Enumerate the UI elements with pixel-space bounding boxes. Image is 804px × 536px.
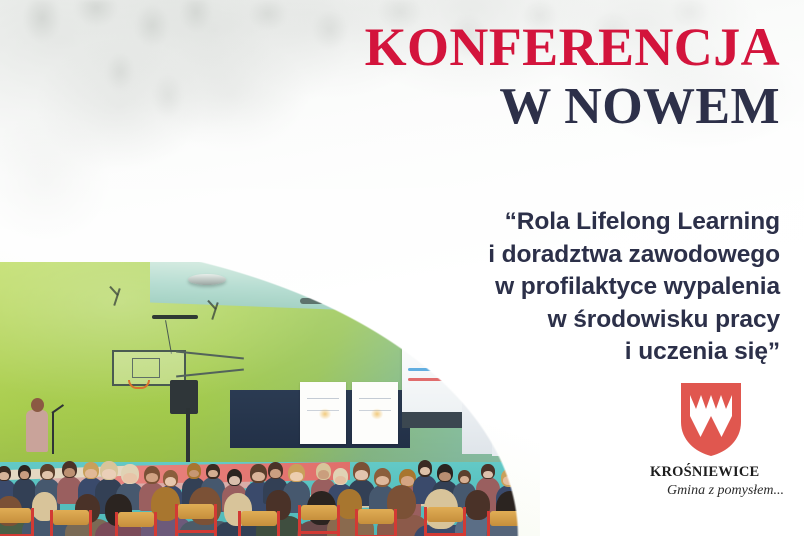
municipality-logo: KROŚNIEWICE Gmina z pomysłem... (648, 382, 788, 500)
ceiling-lamp-icon (188, 274, 226, 285)
chair-row (0, 480, 540, 536)
quote-line-3: w profilaktyce wypalenia (360, 271, 780, 304)
presenter-head (31, 398, 44, 412)
chair (237, 511, 281, 536)
microphone-stand (52, 412, 54, 454)
chair (486, 511, 530, 536)
chair (423, 507, 467, 536)
info-banner-right (492, 374, 526, 456)
conference-subject-quote: “Rola Lifelong Learning i doradztwa zawo… (360, 206, 780, 369)
ceiling-lamp-secondary-icon (300, 298, 324, 304)
loudspeaker (170, 380, 198, 414)
chair (174, 504, 218, 536)
chair (114, 512, 158, 536)
flipchart-left (300, 382, 346, 444)
page-title: KONFERENCJA W NOWEM (365, 20, 780, 133)
quote-line-4: w środowisku pracy (360, 304, 780, 337)
quote-line-5: i uczenia się” (360, 336, 780, 369)
title-line-konferencja: KONFERENCJA (365, 20, 780, 74)
shield-coat-of-arms-icon (680, 382, 742, 457)
municipality-name: KROŚNIEWICE (648, 465, 788, 481)
quote-line-1: “Rola Lifelong Learning (360, 206, 780, 239)
quote-line-2: i doradztwa zawodowego (360, 239, 780, 272)
chair (297, 505, 341, 536)
chair (49, 510, 93, 536)
wall-bar (152, 315, 198, 319)
municipality-tagline: Gmina z pomysłem... (648, 483, 788, 500)
chair (354, 509, 398, 536)
presenter-figure (26, 410, 48, 452)
chair (0, 508, 35, 536)
info-banner-left (462, 380, 492, 454)
flipchart-right (352, 382, 398, 444)
title-line-w-nowem: W NOWEM (365, 81, 780, 133)
conference-poster: KONFERENCJA W NOWEM “Rola Lifelong Learn… (0, 0, 804, 536)
